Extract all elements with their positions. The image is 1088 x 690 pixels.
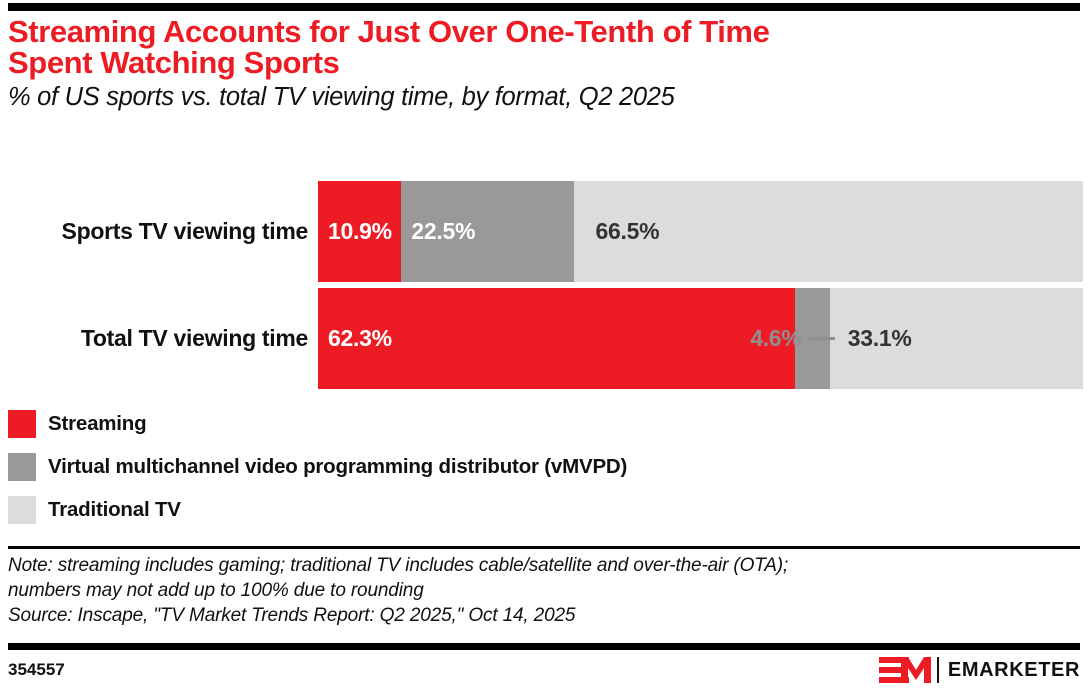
category-label-total-tv-viewing-time: Total TV viewing time [0, 288, 308, 389]
footer-divider [8, 643, 1080, 650]
bar-track-sports-tv-viewing-time: 10.9% 22.5% 66.5% [318, 181, 1083, 282]
emarketer-logo[interactable]: EMARKETER [879, 656, 1080, 684]
legend-item-streaming[interactable]: Streaming [8, 402, 1080, 445]
page-subtitle: % of US sports vs. total TV viewing time… [8, 84, 1080, 111]
bar-segment-value-vmvpd-sports: 22.5% [401, 218, 475, 245]
bar-segment-value-traditional-tv-total: 33.1% [830, 325, 912, 352]
bar-segment-streaming-sports[interactable]: 10.9% [318, 181, 401, 282]
note-line-1: Note: streaming includes gaming; traditi… [8, 553, 1080, 578]
bar-segment-value-streaming-sports: 10.9% [318, 218, 392, 245]
top-divider [8, 3, 1080, 11]
legend-label-vmvpd: Virtual multichannel video programming d… [48, 455, 627, 479]
legend-label-traditional-tv: Traditional TV [48, 498, 181, 522]
legend-swatch-streaming [8, 410, 36, 438]
brand-wordmark: EMARKETER [948, 659, 1080, 682]
chart-page: Streaming Accounts for Just Over One-Ten… [0, 0, 1088, 690]
chart-legend: Streaming Virtual multichannel video pro… [8, 402, 1080, 531]
bar-segment-vmvpd-sports[interactable]: 22.5% [401, 181, 573, 282]
page-title-line-2: Spent Watching Sports [8, 47, 1080, 78]
legend-item-vmvpd[interactable]: Virtual multichannel video programming d… [8, 445, 1080, 488]
legend-item-traditional-tv[interactable]: Traditional TV [8, 488, 1080, 531]
legend-label-streaming: Streaming [48, 412, 146, 436]
note-line-2: numbers may not add up to 100% due to ro… [8, 578, 1080, 603]
logo-divider [937, 657, 939, 683]
page-title-line-1: Streaming Accounts for Just Over One-Ten… [8, 16, 1080, 47]
legend-swatch-vmvpd [8, 453, 36, 481]
chart-id: 354557 [8, 660, 65, 680]
chart-row-total-tv-viewing-time: Total TV viewing time 62.3% 33.1% 4.6% [0, 288, 1088, 389]
chart-header: Streaming Accounts for Just Over One-Ten… [8, 16, 1080, 111]
em-monogram-icon [879, 656, 931, 684]
source-line: Source: Inscape, "TV Market Trends Repor… [8, 603, 1080, 628]
page-title: Streaming Accounts for Just Over One-Ten… [8, 16, 1080, 78]
legend-swatch-traditional-tv [8, 496, 36, 524]
bar-segment-streaming-total[interactable]: 62.3% [318, 288, 795, 389]
bar-track-total-tv-viewing-time: 62.3% 33.1% 4.6% [318, 288, 1083, 389]
notes-block: Note: streaming includes gaming; traditi… [8, 553, 1080, 628]
footer-bar: 354557 EMARKETER [8, 655, 1080, 685]
bar-segment-value-traditional-tv-sports: 66.5% [574, 218, 660, 245]
bar-segment-vmvpd-total[interactable] [795, 288, 830, 389]
category-label-sports-tv-viewing-time: Sports TV viewing time [0, 181, 308, 282]
stacked-bar-chart: Sports TV viewing time 10.9% 22.5% 66.5%… [0, 176, 1088, 394]
bar-segment-traditional-tv-total[interactable]: 33.1% [830, 288, 1083, 389]
bar-segment-traditional-tv-sports[interactable]: 66.5% [574, 181, 1083, 282]
notes-divider [8, 546, 1080, 549]
chart-row-sports-tv-viewing-time: Sports TV viewing time 10.9% 22.5% 66.5% [0, 181, 1088, 282]
bar-segment-value-streaming-total: 62.3% [318, 325, 392, 352]
